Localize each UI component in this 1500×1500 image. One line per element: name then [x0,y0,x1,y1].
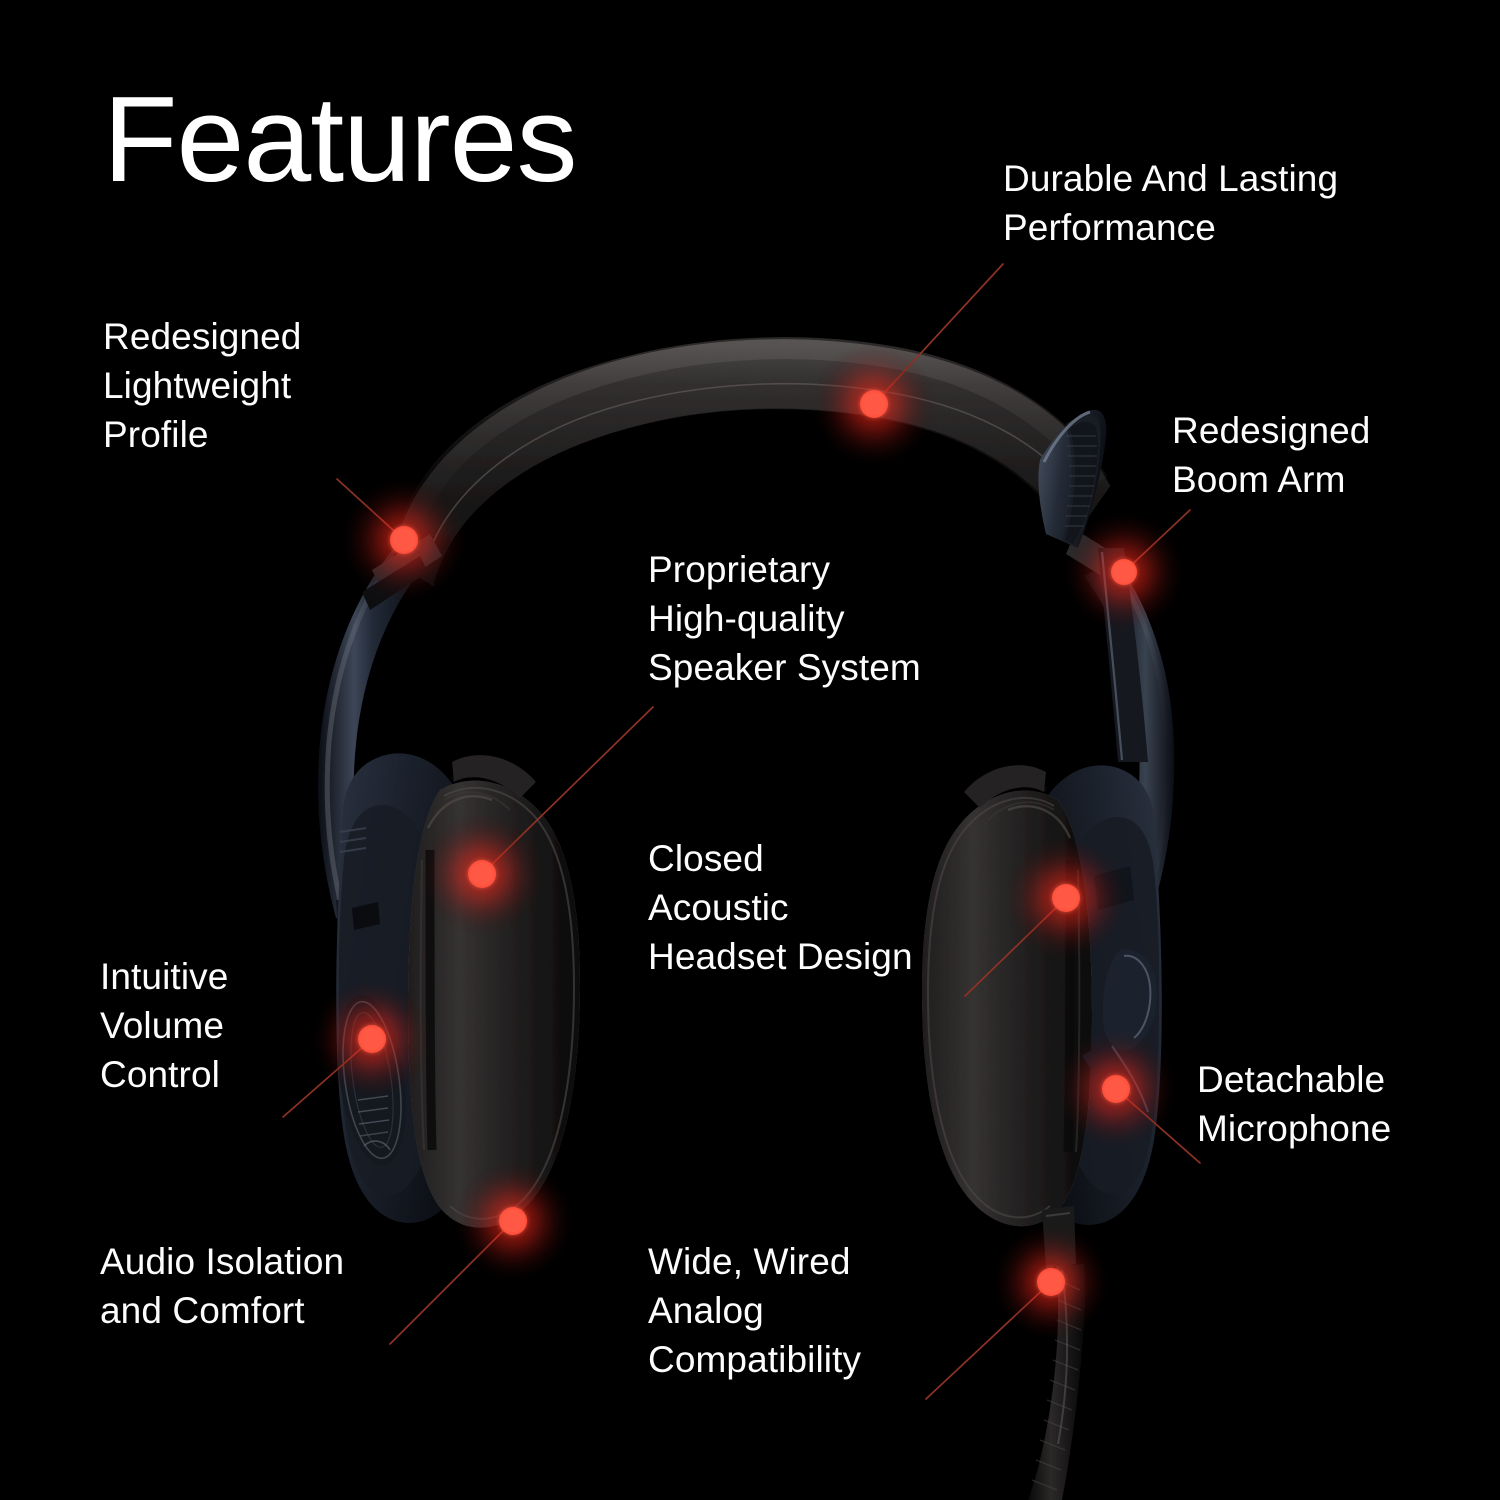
hotspot-left-earcup-upper [420,812,544,936]
callout-redesigned-lightweight-profile[interactable]: Redesigned Lightweight Profile [103,313,463,459]
callout-redesigned-boom-arm[interactable]: Redesigned Boom Arm [1172,407,1472,505]
callout-durable-and-lasting-performance[interactable]: Durable And Lasting Performance [1003,155,1423,253]
callout-label: Closed Acoustic Headset Design [648,835,1048,981]
hotspot-mic-connector [1056,1029,1176,1149]
feature-diagram-canvas: Features Redesigned Lightweight Profile … [0,0,1500,1500]
callout-wide-wired-analog-compatibility[interactable]: Wide, Wired Analog Compatibility [648,1238,1048,1384]
callout-label: Durable And Lasting Performance [1003,155,1423,253]
hotspot-headband-top-right [812,342,936,466]
callout-label: Audio Isolation and Comfort [100,1238,500,1336]
page-title: Features [103,78,576,200]
callout-closed-acoustic-headset-design[interactable]: Closed Acoustic Headset Design [648,835,1048,981]
callout-label: Redesigned Lightweight Profile [103,313,463,459]
callout-label: Wide, Wired Analog Compatibility [648,1238,1048,1384]
hotspot-headband-left-arc [342,478,466,602]
callout-label: Redesigned Boom Arm [1172,407,1472,505]
callout-intuitive-volume-control[interactable]: Intuitive Volume Control [100,953,400,1099]
callout-detachable-microphone[interactable]: Detachable Microphone [1197,1056,1497,1154]
callout-proprietary-high-quality-speaker-system[interactable]: Proprietary High-quality Speaker System [648,546,1028,692]
callout-audio-isolation-and-comfort[interactable]: Audio Isolation and Comfort [100,1238,500,1336]
callout-label: Intuitive Volume Control [100,953,400,1099]
callout-label: Proprietary High-quality Speaker System [648,546,1028,692]
callout-label: Detachable Microphone [1197,1056,1497,1154]
hotspot-boom-arm-hinge [1064,512,1184,632]
